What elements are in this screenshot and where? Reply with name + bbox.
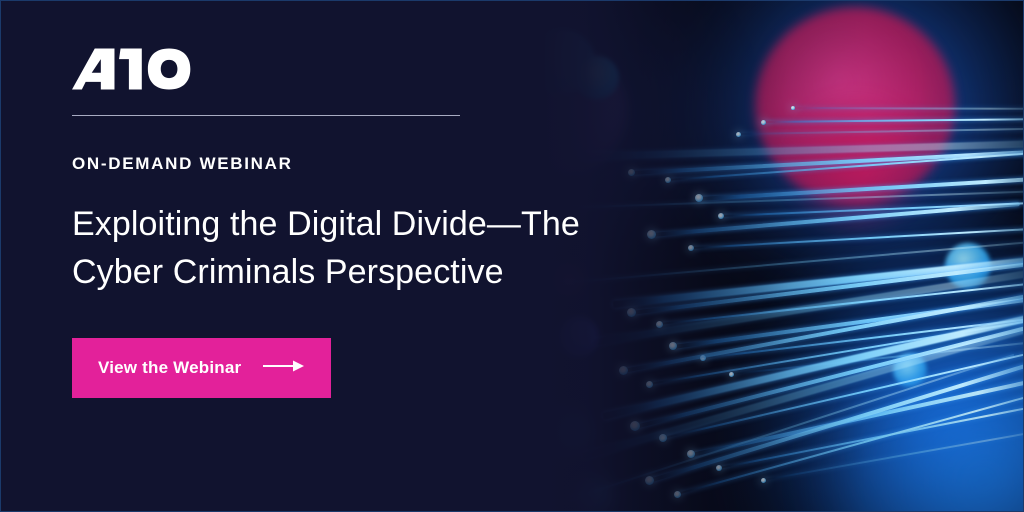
a10-networks-logo[interactable]	[72, 47, 601, 91]
banner-content: ON-DEMAND WEBINAR Exploiting the Digital…	[1, 1, 601, 511]
cta-label: View the Webinar	[98, 358, 241, 378]
headline-line-1: Exploiting the Digital Divide—The	[72, 205, 580, 243]
eyebrow-label: ON-DEMAND WEBINAR	[72, 154, 601, 174]
headline-line-2: Cyber Criminals Perspective	[72, 253, 504, 291]
view-the-webinar-button[interactable]: View the Webinar	[72, 338, 331, 398]
header-divider	[72, 115, 460, 116]
page-title: Exploiting the Digital Divide—TheCyber C…	[72, 200, 601, 296]
arrow-right-icon	[263, 359, 305, 378]
webinar-promo-banner: ON-DEMAND WEBINAR Exploiting the Digital…	[0, 0, 1024, 512]
